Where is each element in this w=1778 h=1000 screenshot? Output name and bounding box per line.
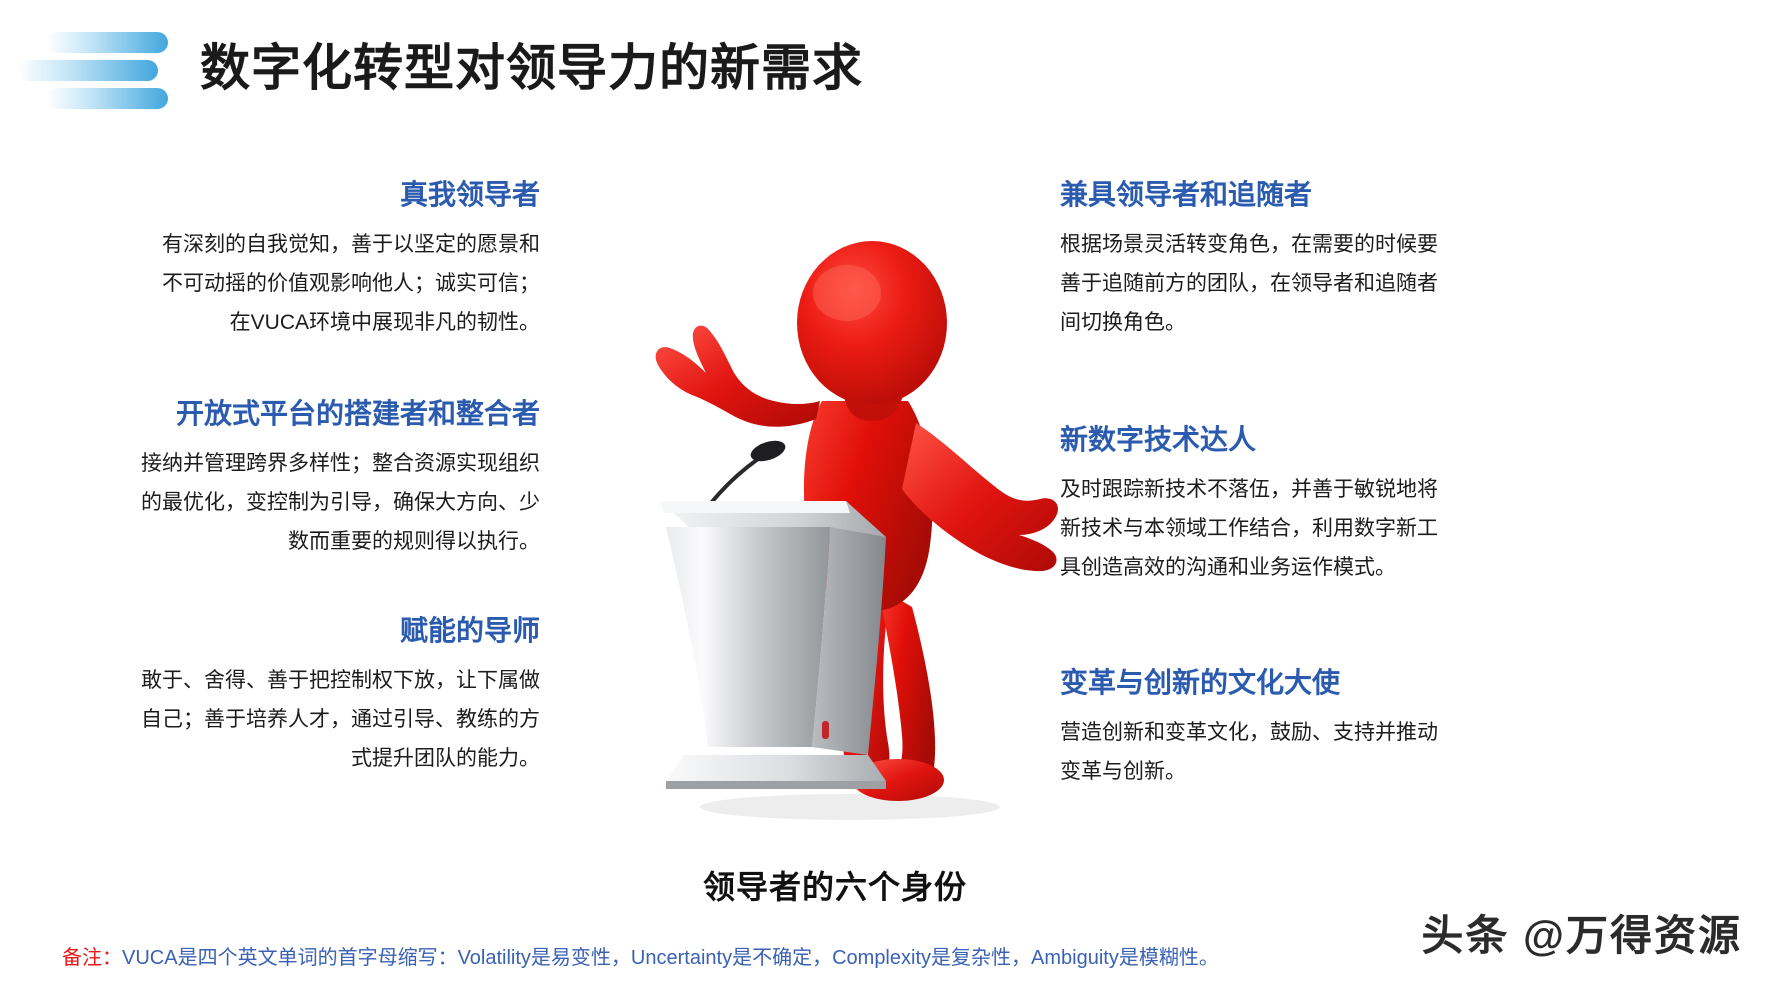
role-heading: 变革与创新的文化大使 [1060,663,1480,703]
logo-bar-middle [18,60,158,81]
ground-shadow [700,794,1000,820]
body-line: 根据场景灵活转变角色，在需要的时候要 [1060,225,1480,264]
logo-bar-bottom [46,88,168,109]
body-line: 及时跟踪新技术不落伍，并善于敏锐地将 [1060,470,1480,509]
watermark: 头条 @万得资源 [1421,902,1742,963]
podium-desktop-edge [660,501,850,513]
podium-body-front [666,527,830,747]
three-bars-logo-icon [18,32,168,110]
body-line: 式提升团队的能力。 [120,739,540,778]
role-body: 及时跟踪新技术不落伍，并善于敏锐地将 新技术与本领域工作结合，利用数字新工 具创… [1060,470,1480,587]
body-line: 间切换角色。 [1060,303,1480,342]
role-block-empowering-mentor: 赋能的导师 敢于、舍得、善于把控制权下放，让下属做 自己；善于培养人才，通过引导… [120,611,540,778]
body-line: 不可动摇的价值观影响他人；诚实可信； [120,264,540,303]
role-body: 接纳并管理跨界多样性；整合资源实现组织 的最优化，变控制为引导，确保大方向、少 … [120,444,540,561]
logo-bar-top [46,32,168,53]
center-caption: 领导者的六个身份 [600,862,1070,908]
role-body: 敢于、舍得、善于把控制权下放，让下属做 自己；善于培养人才，通过引导、教练的方 … [120,661,540,778]
footnote-text: VUCA是四个英文单词的首字母缩写：Volatility是易变性，Uncerta… [122,947,1219,969]
role-block-leader-and-follower: 兼具领导者和追随者 根据场景灵活转变角色，在需要的时候要 善于追随前方的团队，在… [1060,175,1480,342]
role-heading: 新数字技术达人 [1060,420,1480,460]
role-heading: 赋能的导师 [120,611,540,651]
role-body: 根据场景灵活转变角色，在需要的时候要 善于追随前方的团队，在领导者和追随者 间切… [1060,225,1480,342]
body-line: 接纳并管理跨界多样性；整合资源实现组织 [120,444,540,483]
role-block-culture-ambassador: 变革与创新的文化大使 营造创新和变革文化，鼓励、支持并推动 变革与创新。 [1060,663,1480,791]
figure-left-arm [656,326,820,427]
right-column: 兼具领导者和追随者 根据场景灵活转变角色，在需要的时候要 善于追随前方的团队，在… [1060,175,1480,791]
role-block-platform-builder: 开放式平台的搭建者和整合者 接纳并管理跨界多样性；整合资源实现组织 的最优化，变… [120,394,540,561]
role-body: 营造创新和变革文化，鼓励、支持并推动 变革与创新。 [1060,713,1480,791]
body-line: 善于追随前方的团队，在领导者和追随者 [1060,264,1480,303]
body-line: 新技术与本领域工作结合，利用数字新工 [1060,509,1480,548]
role-block-digital-tech-expert: 新数字技术达人 及时跟踪新技术不落伍，并善于敏锐地将 新技术与本领域工作结合，利… [1060,420,1480,587]
body-line: 有深刻的自我觉知，善于以坚定的愿景和 [120,225,540,264]
role-heading: 兼具领导者和追随者 [1060,175,1480,215]
role-heading: 真我领导者 [120,175,540,215]
footnote: 备注：VUCA是四个英文单词的首字母缩写：Volatility是易变性，Unce… [62,943,1219,973]
body-line: 营造创新和变革文化，鼓励、支持并推动 [1060,713,1480,752]
body-line: 的最优化，变控制为引导，确保大方向、少 [120,483,540,522]
figure-head-highlight [813,265,881,321]
left-column: 真我领导者 有深刻的自我觉知，善于以坚定的愿景和 不可动摇的价值观影响他人；诚实… [120,175,540,778]
slide-header: 数字化转型对领导力的新需求 [0,0,1778,140]
role-block-authentic-leader: 真我领导者 有深刻的自我觉知，善于以坚定的愿景和 不可动摇的价值观影响他人；诚实… [120,175,540,342]
role-body: 有深刻的自我觉知，善于以坚定的愿景和 不可动摇的价值观影响他人；诚实可信； 在V… [120,225,540,342]
podium-button [822,721,829,739]
role-heading: 开放式平台的搭建者和整合者 [120,394,540,434]
podium-base [666,755,886,781]
body-line: 变革与创新。 [1060,752,1480,791]
figure-head [797,241,947,405]
body-line: 自己；善于培养人才，通过引导、教练的方 [120,700,540,739]
body-line: 敢于、舍得、善于把控制权下放，让下属做 [120,661,540,700]
page-title: 数字化转型对领导力的新需求 [200,28,863,108]
podium-base-shadow [666,781,886,789]
body-line: 在VUCA环境中展现非凡的韧性。 [120,303,540,342]
body-line: 具创造高效的沟通和业务运作模式。 [1060,548,1480,587]
slide-canvas: 数字化转型对领导力的新需求 真我领导者 有深刻的自我觉知，善于以坚定的愿景和 不… [0,0,1778,1000]
podium-speaker-illustration [600,215,1070,835]
footnote-label: 备注： [62,947,122,969]
body-line: 数而重要的规则得以执行。 [120,522,540,561]
